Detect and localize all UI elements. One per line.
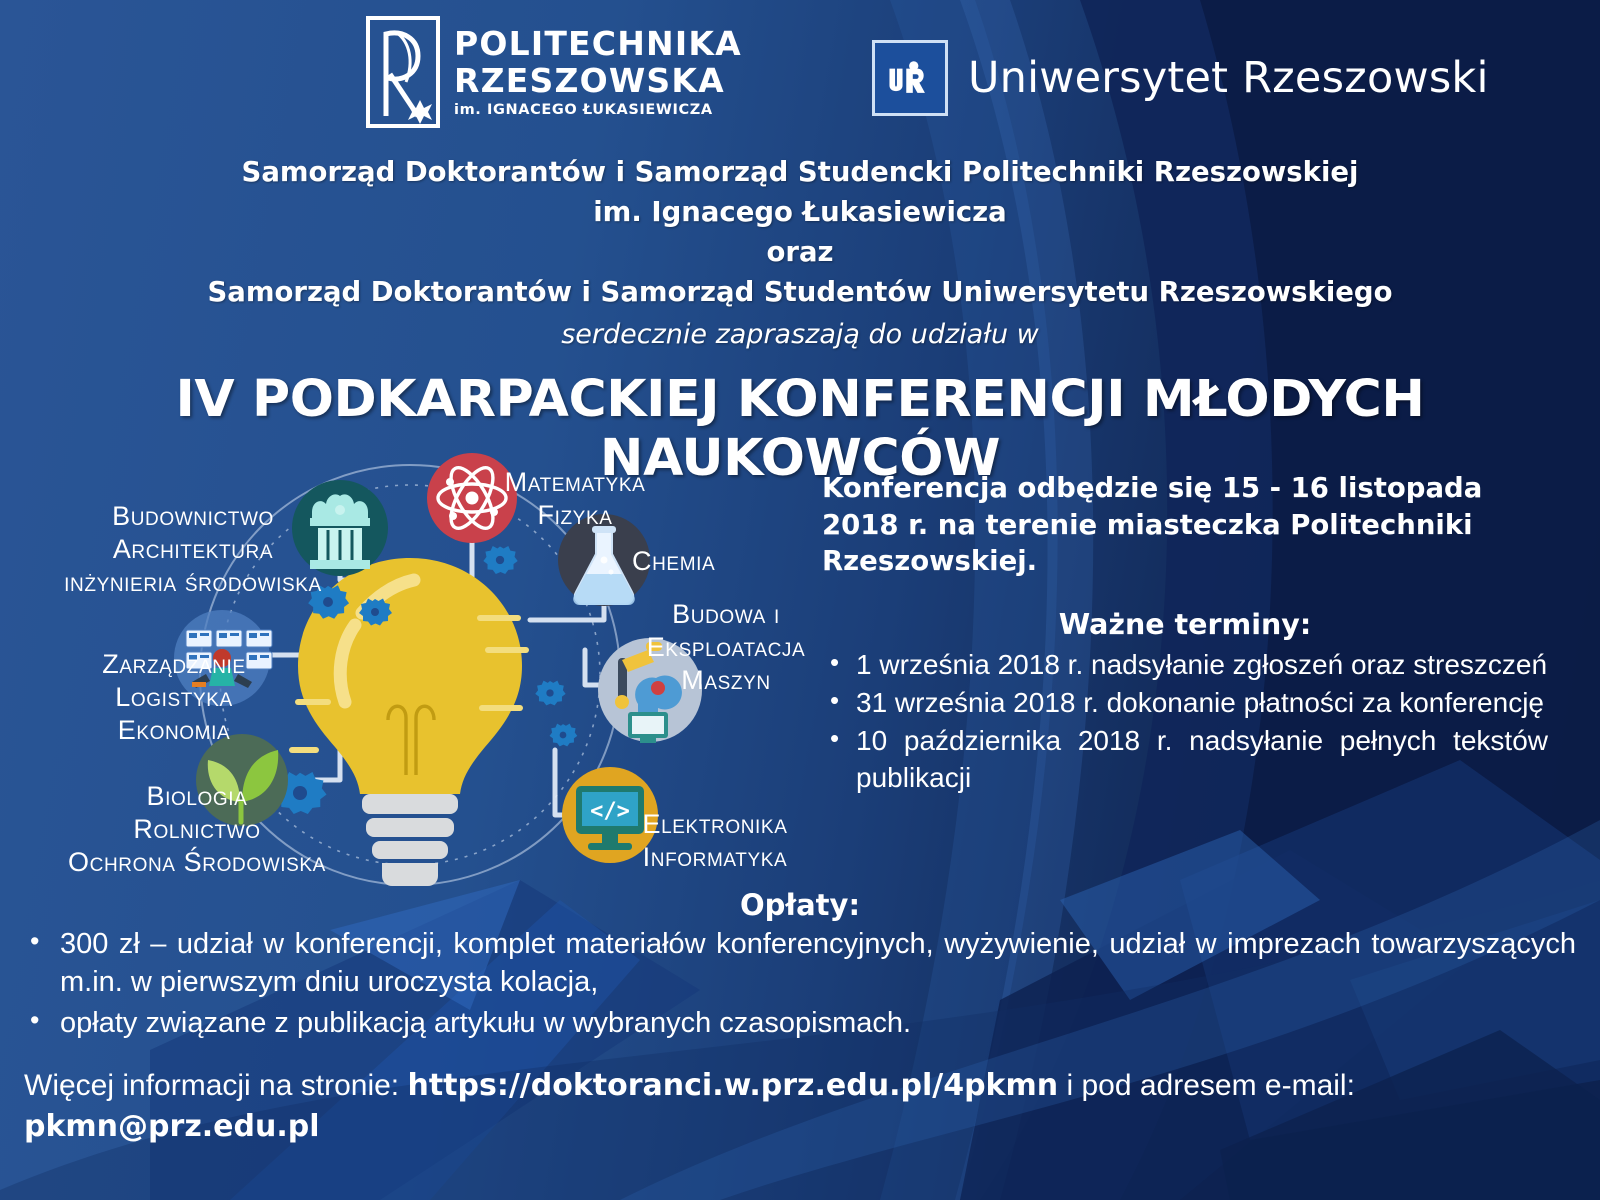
ur-monogram-icon xyxy=(872,40,948,116)
prz-monogram-icon xyxy=(366,16,440,128)
contact-middle: i pod adresem e-mail: xyxy=(1058,1069,1355,1102)
ur-letters-icon xyxy=(882,50,938,106)
logo-row: POLITECHNIKA RZESZOWSKA im. IGNACEGO ŁUK… xyxy=(0,0,1600,145)
label-budowa-maszyn-line1: Budowa i xyxy=(642,598,810,631)
label-matematyka-line1: Matematyka xyxy=(460,466,690,499)
invitation-line: serdecznie zapraszają do udziału w xyxy=(0,319,1600,350)
label-zarzadzanie-line2: Logistyka xyxy=(66,681,282,714)
fees-heading: Opłaty: xyxy=(0,888,1600,922)
prz-logo-line1: POLITECHNIKA xyxy=(454,27,742,60)
label-elektronika: Elektronika Informatyka xyxy=(620,808,810,874)
fee-item: opłaty związane z publikacją artykułu w … xyxy=(24,1005,1576,1043)
contact-block: Więcej informacji na stronie: https://do… xyxy=(24,1066,1576,1146)
label-budownictwo: Budownictwo Architektura inżynieria środ… xyxy=(58,500,328,599)
politechnika-rzeszowska-logo: POLITECHNIKA RZESZOWSKA im. IGNACEGO ŁUK… xyxy=(366,16,742,128)
organiser-line-3: oraz xyxy=(0,232,1600,272)
label-budownictwo-line2: Architektura xyxy=(58,533,328,566)
label-budownictwo-line1: Budownictwo xyxy=(58,500,328,533)
deadline-item: 1 września 2018 r. nadsyłanie zgłoszeń o… xyxy=(822,647,1548,683)
deadlines-heading: Ważne terminy: xyxy=(822,608,1548,641)
label-budowa-maszyn: Budowa i Eksploatacja Maszyn xyxy=(642,598,810,697)
label-biologia-line1: Biologia xyxy=(62,780,332,813)
uniwersytet-rzeszowski-logo: Uniwersytet Rzeszowski xyxy=(872,40,1489,116)
label-biologia: Biologia Rolnictwo Ochrona Środowiska xyxy=(62,780,332,879)
prz-logo-line2: RZESZOWSKA xyxy=(454,64,742,97)
label-chemia-line1: Chemia xyxy=(632,545,812,578)
prz-logo-line3: im. IGNACEGO ŁUKASIEWICZA xyxy=(454,103,742,118)
label-zarzadzanie-line1: Zarządzanie xyxy=(66,648,282,681)
conference-when: Konferencja odbędzie się 15 - 16 listopa… xyxy=(822,470,1548,580)
deadline-item: 10 października 2018 r. nadsyłanie pełny… xyxy=(822,723,1548,796)
label-elektronika-line1: Elektronika xyxy=(620,808,810,841)
label-biologia-line3: Ochrona Środowiska xyxy=(62,846,332,879)
conference-website-link[interactable]: https://doktoranci.w.prz.edu.pl/4pkmn xyxy=(407,1068,1058,1103)
organiser-line-2: im. Ignacego Łukasiewicza xyxy=(0,192,1600,232)
organiser-line-4: Samorząd Doktorantów i Samorząd Studentó… xyxy=(0,272,1600,312)
label-matematyka: Matematyka Fizyka xyxy=(460,466,690,532)
contact-prefix: Więcej informacji na stronie: xyxy=(24,1069,407,1102)
fees-list: 300 zł – udział w konferencji, komplet m… xyxy=(24,926,1576,1047)
deadlines-list: 1 września 2018 r. nadsyłanie zgłoszeń o… xyxy=(822,647,1548,797)
fee-item: 300 zł – udział w konferencji, komplet m… xyxy=(24,926,1576,1001)
conference-email-link[interactable]: pkmn@prz.edu.pl xyxy=(24,1107,1576,1146)
organiser-line-1: Samorząd Doktorantów i Samorząd Studenck… xyxy=(0,152,1600,192)
organisers-block: Samorząd Doktorantów i Samorząd Studenck… xyxy=(0,152,1600,350)
conference-details: Konferencja odbędzie się 15 - 16 listopa… xyxy=(822,470,1548,798)
label-matematyka-line2: Fizyka xyxy=(460,499,690,532)
deadline-item: 31 września 2018 r. dokonanie płatności … xyxy=(822,685,1548,721)
label-elektronika-line2: Informatyka xyxy=(620,841,810,874)
label-chemia: Chemia xyxy=(632,545,812,578)
label-budowa-maszyn-line2: Eksploatacja xyxy=(642,631,810,664)
conference-poster: POLITECHNIKA RZESZOWSKA im. IGNACEGO ŁUK… xyxy=(0,0,1600,1200)
label-zarzadzanie-line3: Ekonomia xyxy=(66,714,282,747)
disciplines-infographic: </> Budownictwo Architektura inżynieria … xyxy=(10,450,810,890)
label-biologia-line2: Rolnictwo xyxy=(62,813,332,846)
ur-logo-name: Uniwersytet Rzeszowski xyxy=(968,53,1489,103)
label-budowa-maszyn-line3: Maszyn xyxy=(642,664,810,697)
label-budownictwo-line3: inżynieria środowiska xyxy=(58,566,328,599)
label-zarzadzanie: Zarządzanie Logistyka Ekonomia xyxy=(66,648,282,747)
